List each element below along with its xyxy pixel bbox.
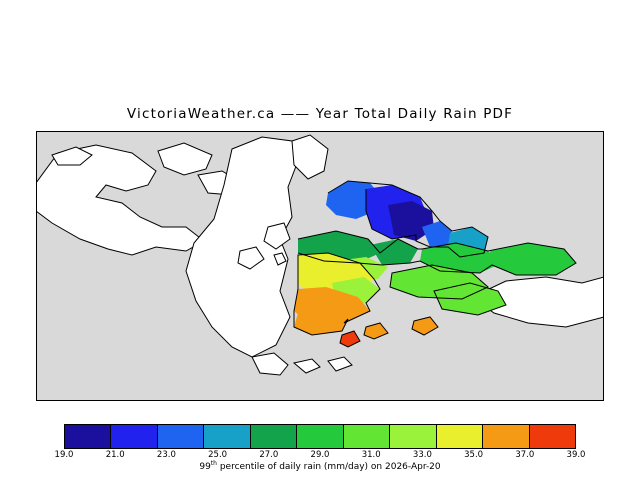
colorbar-tick-10: 39.0: [567, 450, 586, 460]
colorbar-tick-7: 33.0: [413, 450, 432, 460]
colorbar-cell-10: [529, 425, 575, 448]
map-canvas: [36, 131, 604, 401]
map-page: VictoriaWeather.ca —— Year Total Daily R…: [0, 0, 640, 480]
colorbar-cell-1: [110, 425, 156, 448]
colorbar-caption-rest: percentile of daily rain (mm/day) on 202…: [217, 462, 441, 472]
colorbar-cell-6: [343, 425, 389, 448]
colorbar-tick-3: 25.0: [208, 450, 227, 460]
map-figure: [36, 131, 604, 401]
colorbar-tick-2: 23.0: [157, 450, 176, 460]
colorbar-caption-prefix: 99: [199, 462, 210, 472]
colorbar-caption: 99th percentile of daily rain (mm/day) o…: [0, 460, 640, 472]
colorbar-tick-5: 29.0: [311, 450, 330, 460]
colorbar-cell-9: [482, 425, 528, 448]
colorbar-tick-1: 21.0: [106, 450, 125, 460]
colorbar-cell-4: [250, 425, 296, 448]
colorbar-tick-4: 27.0: [259, 450, 278, 460]
colorbar-tick-9: 37.0: [515, 450, 534, 460]
colorbar: [64, 424, 576, 449]
colorbar-cell-0: [65, 425, 110, 448]
colorbar-cell-8: [436, 425, 482, 448]
colorbar-tick-8: 35.0: [464, 450, 483, 460]
colorbar-tick-6: 31.0: [362, 450, 381, 460]
colorbar-cell-7: [389, 425, 435, 448]
colorbar-cell-2: [157, 425, 203, 448]
colorbar-cell-5: [296, 425, 342, 448]
colorbar-cell-3: [203, 425, 249, 448]
page-title: VictoriaWeather.ca —— Year Total Daily R…: [0, 106, 640, 122]
colorbar-tick-0: 19.0: [55, 450, 74, 460]
